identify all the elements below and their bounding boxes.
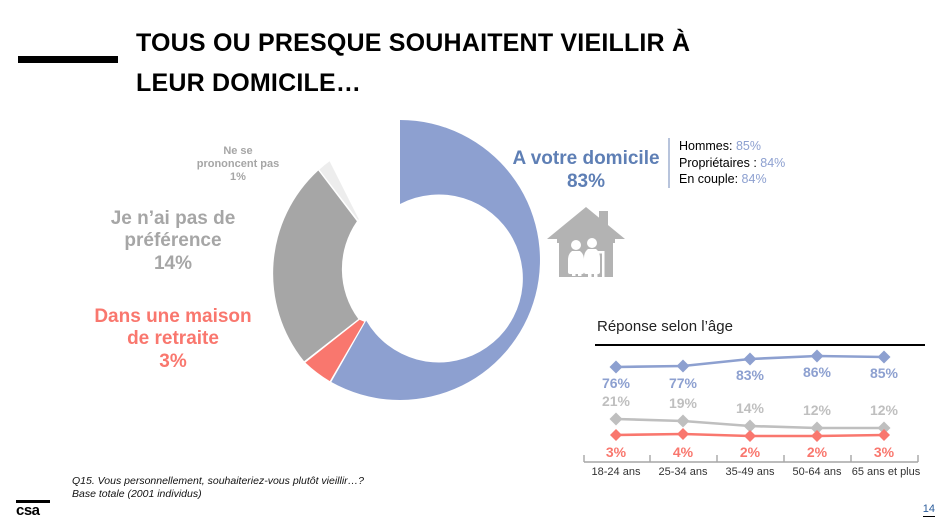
- no-pref-name-line-1: Je n’ai pas de: [111, 208, 236, 229]
- series-value-labels-je-nai-pas-de-preference: 21% 19% 14% 12% 12%: [602, 393, 899, 418]
- svg-text:12%: 12%: [870, 402, 899, 418]
- svg-text:77%: 77%: [669, 375, 698, 391]
- svg-text:19%: 19%: [669, 395, 698, 411]
- subgroup-row: En couple: 84%: [679, 171, 785, 188]
- svg-text:50-64 ans: 50-64 ans: [793, 466, 842, 478]
- footnote: Q15. Vous personnellement, souhaiteriez-…: [72, 475, 364, 501]
- svg-text:12%: 12%: [803, 402, 832, 418]
- subgroup-value: 84%: [760, 156, 785, 170]
- page-title-line-2: LEUR DOMICILE…: [136, 63, 776, 103]
- svg-text:18-24 ans: 18-24 ans: [592, 466, 641, 478]
- svg-text:86%: 86%: [803, 364, 832, 380]
- subgroup-callout-box: Hommes: 85% Propriétaires : 84% En coupl…: [668, 138, 785, 188]
- svg-text:25-34 ans: 25-34 ans: [659, 466, 708, 478]
- series-value-labels-a-votre-domicile: 76% 77% 83% 86% 85%: [602, 364, 899, 391]
- house-family-icon: [545, 203, 627, 283]
- subgroup-value: 84%: [742, 172, 767, 186]
- title-accent-bar: [18, 56, 118, 63]
- subgroup-row: Propriétaires : 84%: [679, 155, 785, 172]
- svg-text:65 ans et plus: 65 ans et plus: [852, 466, 921, 478]
- donut-label-a-votre-domicile: A votre domicile 83%: [508, 148, 664, 194]
- donut-label-je-nai-pas-de-preference: Je n’ai pas de préférence 14%: [78, 208, 268, 275]
- subgroup-label: En couple:: [679, 172, 742, 186]
- retirement-value: 3%: [159, 351, 186, 372]
- csa-logo-text: csa: [16, 503, 50, 518]
- footnote-question: Q15. Vous personnellement, souhaiteriez-…: [72, 475, 364, 488]
- svg-text:4%: 4%: [673, 444, 694, 460]
- svg-text:3%: 3%: [606, 444, 627, 460]
- page-title: TOUS OU PRESQUE SOUHAITENT VIEILLIR À LE…: [136, 23, 776, 103]
- retirement-name-line-2: de retraite: [127, 328, 219, 349]
- page-title-line-1: TOUS OU PRESQUE SOUHAITENT VIEILLIR À: [136, 23, 776, 63]
- no-pref-value: 14%: [154, 253, 192, 274]
- svg-text:14%: 14%: [736, 400, 765, 416]
- svg-text:35-49 ans: 35-49 ans: [726, 466, 775, 478]
- home-value: 83%: [567, 171, 605, 192]
- age-chart-title: Réponse selon l’âge: [597, 318, 733, 335]
- subgroup-label: Hommes:: [679, 139, 736, 153]
- csa-logo: csa: [16, 500, 50, 518]
- age-chart-category-labels: 18-24 ans 25-34 ans 35-49 ans 50-64 ans …: [592, 466, 921, 478]
- svg-text:3%: 3%: [874, 444, 895, 460]
- svg-text:2%: 2%: [740, 444, 761, 460]
- donut-label-ne-se-prononcent-pas: Ne se prononcent pas 1%: [178, 145, 298, 184]
- svg-text:2%: 2%: [807, 444, 828, 460]
- svg-text:76%: 76%: [602, 375, 631, 391]
- svg-text:83%: 83%: [736, 367, 765, 383]
- age-chart-svg: 76% 77% 83% 86% 85% 21% 19% 14% 12% 12%: [580, 342, 935, 478]
- subgroup-label: Propriétaires :: [679, 156, 760, 170]
- retirement-name-line-1: Dans une maison: [94, 306, 251, 327]
- footnote-base: Base totale (2001 individus): [72, 488, 364, 501]
- home-name: A votre domicile: [512, 148, 659, 169]
- svg-text:85%: 85%: [870, 365, 899, 381]
- nsp-value: 1%: [230, 171, 246, 183]
- nsp-name-line-2: prononcent pas: [197, 158, 280, 170]
- no-pref-name-line-2: préférence: [124, 230, 221, 251]
- page-number: 14: [923, 503, 935, 517]
- nsp-name-line-1: Ne se: [223, 145, 252, 157]
- subgroup-row: Hommes: 85%: [679, 138, 785, 155]
- age-line-chart: Réponse selon l’âge 76% 77% 83% 86% 85%: [580, 318, 935, 478]
- svg-text:21%: 21%: [602, 393, 631, 409]
- house-family-icon-svg: [545, 203, 627, 283]
- subgroup-value: 85%: [736, 139, 761, 153]
- donut-label-maison-de-retraite: Dans une maison de retraite 3%: [78, 306, 268, 373]
